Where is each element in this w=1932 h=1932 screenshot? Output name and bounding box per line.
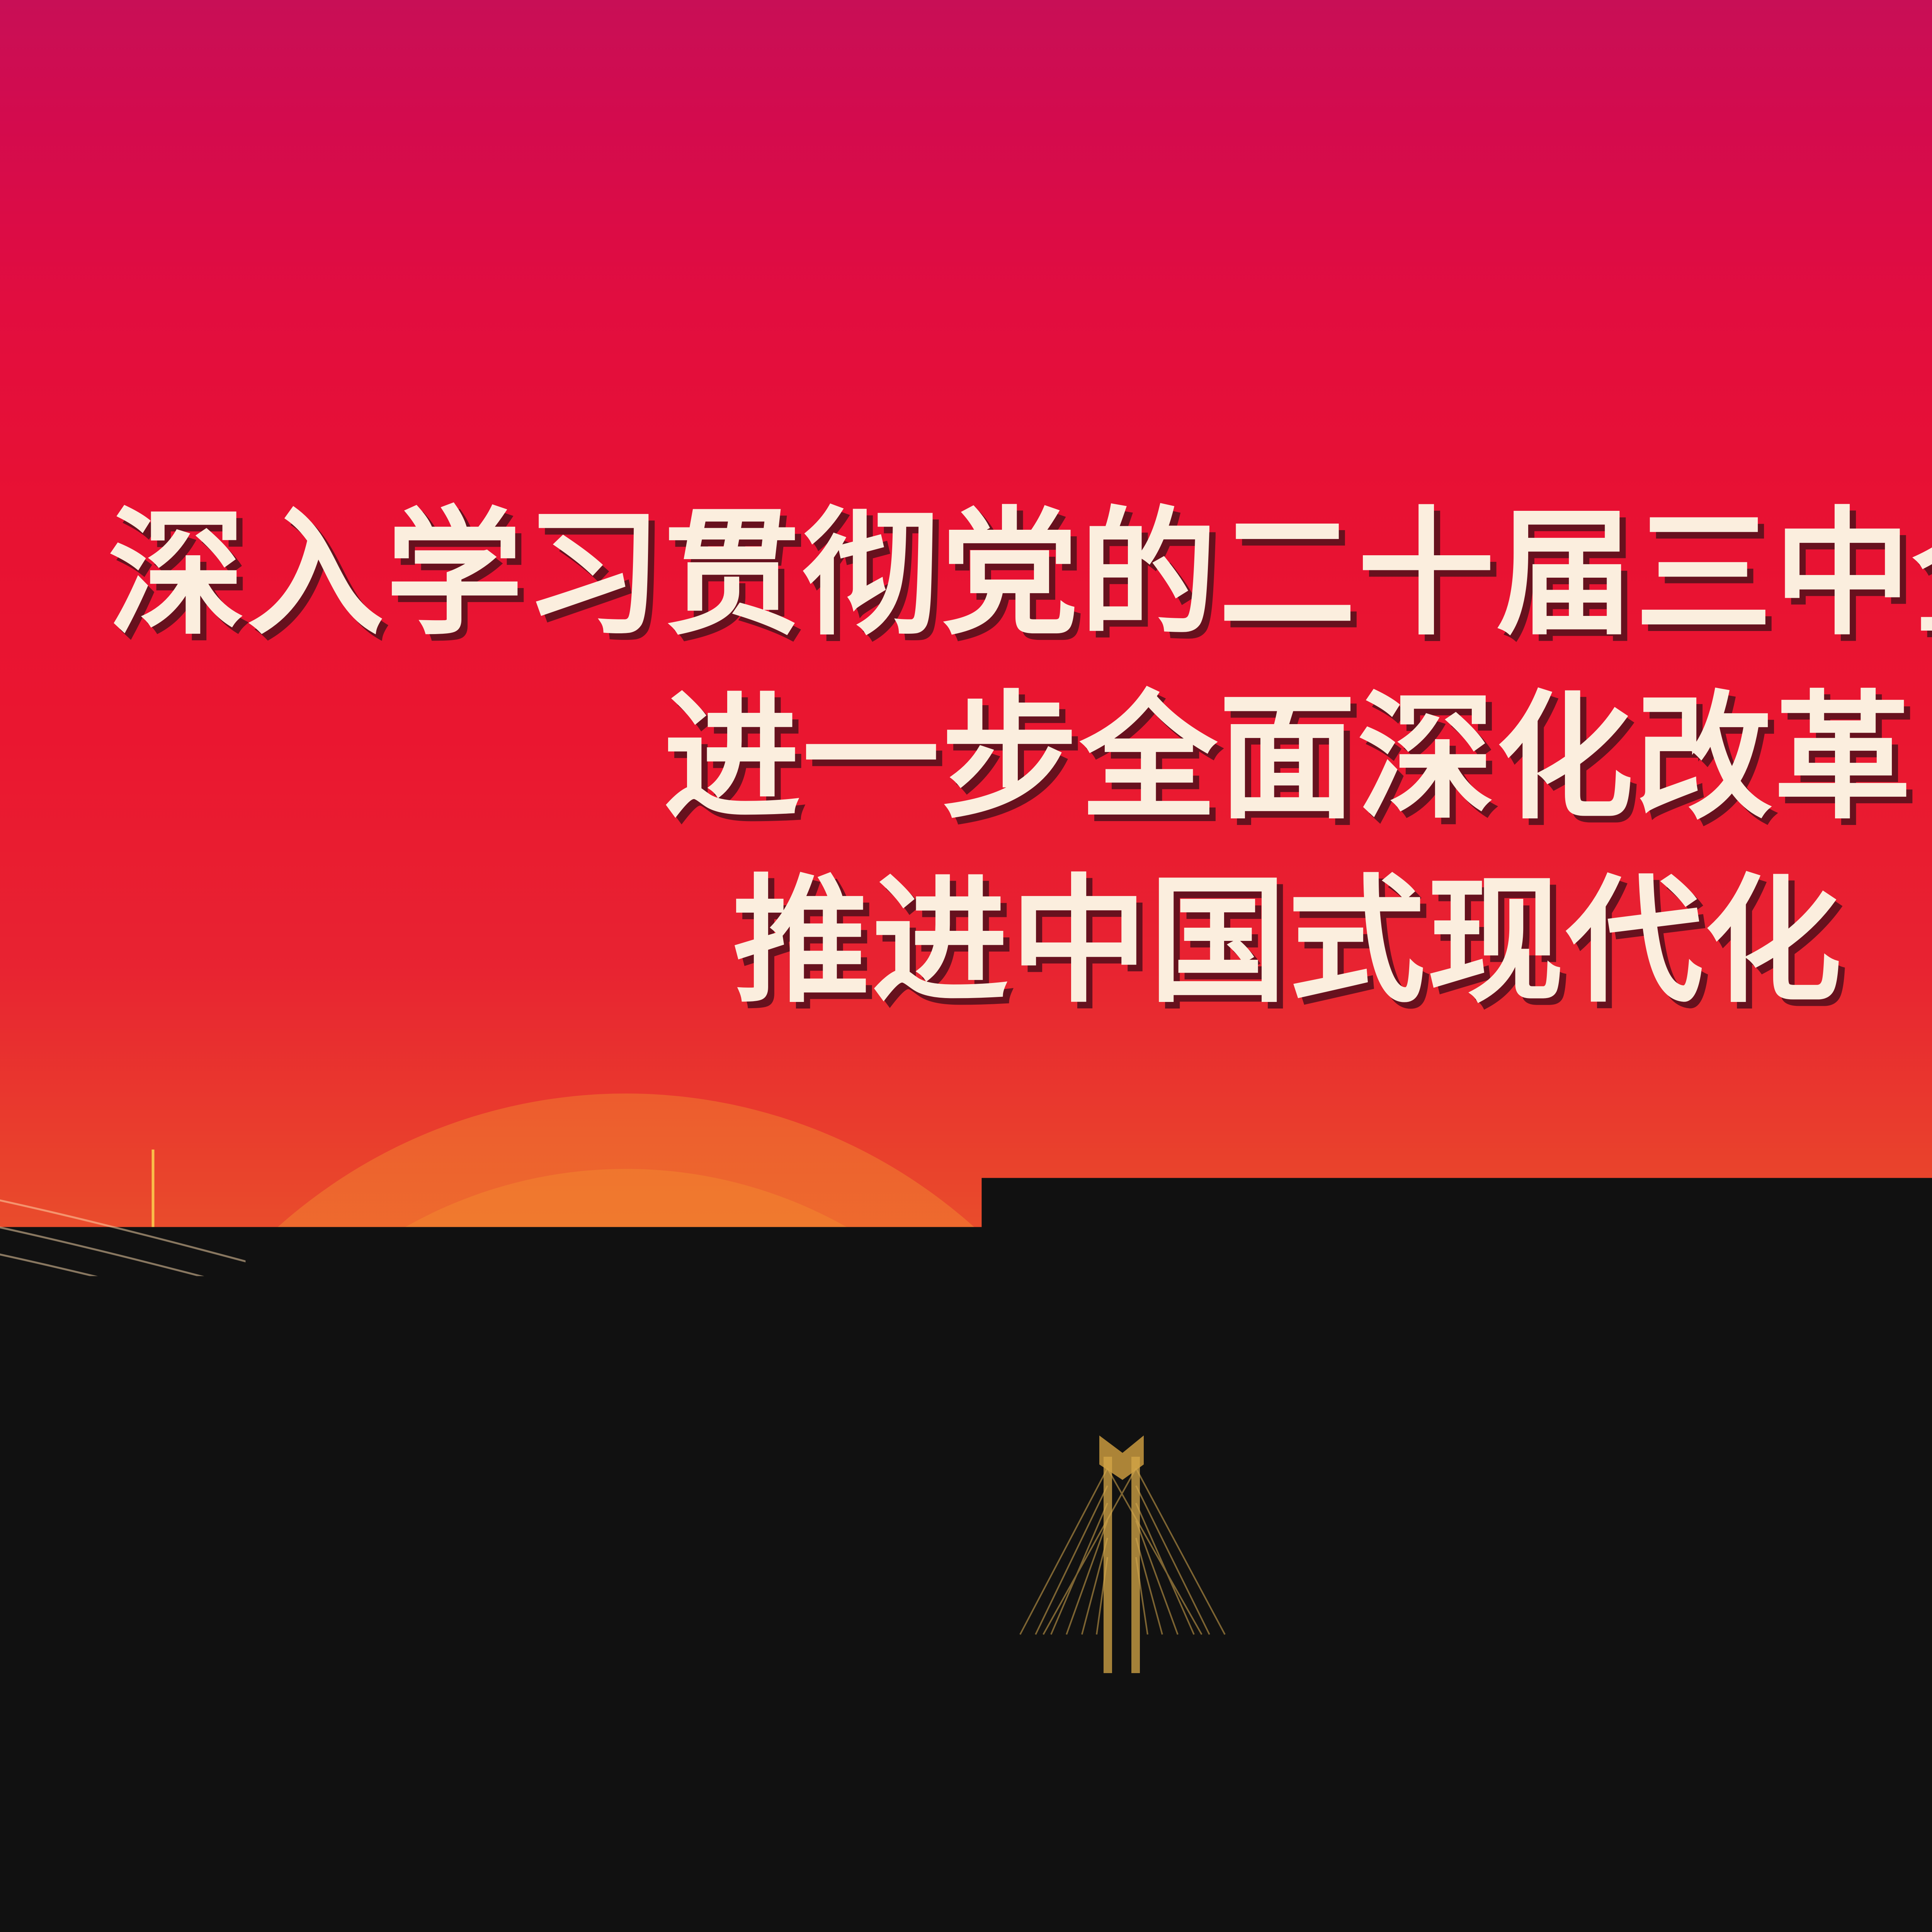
- sun-arc-3: [170, 1169, 1082, 1932]
- sun-arc-2: [240, 1240, 1012, 1932]
- speed-lines-right: [1747, 1132, 1932, 1599]
- wave-trough-deep-2: [1144, 1692, 1468, 1855]
- ctf-finance-centre: [185, 1287, 250, 1642]
- wave-ridge-crimson-left: [0, 1537, 981, 1932]
- ruins-of-st-pauls: [1509, 1445, 1739, 1633]
- guangzhou-twin-tower: [60, 1366, 128, 1640]
- poster-title-block: 深入学习贯彻党的二十届三中全会精神 进一步全面深化改革 推进中国式现代化: [0, 485, 1932, 1031]
- poster-canvas: 深入学习贯彻党的二十届三中全会精神 进一步全面深化改革 推进中国式现代化: [0, 0, 1932, 1932]
- wave-glow-left: [0, 1602, 437, 1704]
- sun-arc-4: [97, 1094, 1155, 1932]
- wave-ridge-crimson-right: [1406, 1566, 1932, 1932]
- bank-of-china-tower: [1406, 1283, 1480, 1642]
- guangzhou-opera-house: [324, 1507, 989, 1635]
- title-line-1: 深入学习贯彻党的二十届三中全会精神: [0, 485, 1932, 663]
- wave-front-main: [0, 1642, 1932, 1932]
- title-line-3: 推进中国式现代化: [0, 852, 1932, 1031]
- wave-trough-deep-1: [417, 1642, 904, 1886]
- sun-arc-group: [97, 1094, 1155, 1932]
- wave-hill-back: [0, 1476, 1932, 1932]
- hzmb-cable-bridge: [1020, 1435, 1225, 1673]
- speed-lines-left: [0, 1198, 1932, 1702]
- title-line-2: 进一步全面深化改革: [0, 669, 1932, 847]
- wave-reflection-band: [0, 1641, 1932, 1673]
- sun-arc-1: [317, 1320, 935, 1932]
- canton-tower: [132, 1150, 175, 1640]
